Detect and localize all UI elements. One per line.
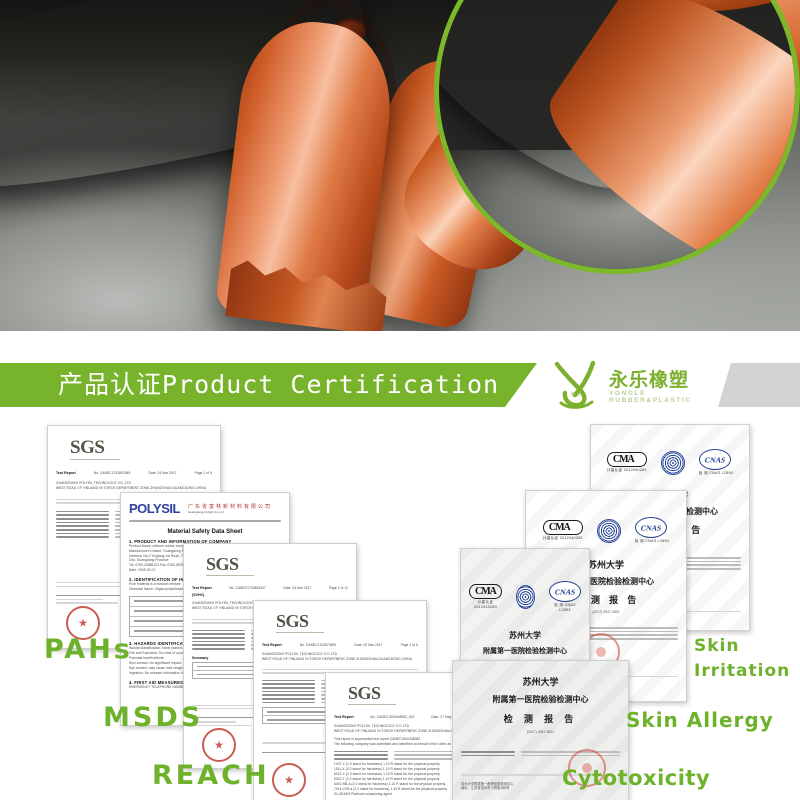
ilac-mra-mark — [597, 519, 621, 543]
institution-name-cn: 苏州大学 — [469, 630, 581, 641]
institution-name-cn: 苏州大学 — [461, 675, 620, 688]
header-gray-accent — [718, 363, 800, 407]
cma-mark: CMA — [607, 452, 647, 467]
doc-subtitle: (SVHC) — [192, 593, 348, 597]
official-stamp — [272, 763, 306, 797]
company-logo: 永 乐 永乐橡塑 YONGLE RUBBER&PLASTIC — [549, 357, 724, 413]
doc-date: Date: 24 Mar 2017 — [148, 471, 176, 476]
label-cytotoxicity: Cytotoxicity — [562, 766, 710, 790]
doc-title: Test Report — [262, 643, 282, 647]
doc-no: No. CANEC1900448082_001 — [370, 715, 414, 720]
label-skin-allergy: Skin Allergy — [626, 708, 774, 732]
official-stamp — [202, 728, 236, 762]
cma-mark: CMA — [469, 584, 502, 599]
magnifier-content — [438, 0, 796, 270]
label-msds: MSDS — [103, 702, 203, 733]
doc-no: No. CANEC1703802045 — [94, 471, 131, 476]
doc-no: No. CANEC1703805447 — [229, 586, 266, 591]
cnas-caption: 检 测 CNAS L2894 — [699, 471, 733, 476]
logo-name-en: YONGLE RUBBER&PLASTIC — [609, 390, 724, 404]
cnas-mark — [635, 517, 667, 538]
doc-title: Test Report — [334, 715, 354, 719]
label-reach: REACH — [152, 760, 270, 791]
page-title: 产品认证Product Certification — [58, 363, 499, 407]
accreditation-marks: CMA 计量认证 2012040283 检 测 CNAS L2894 — [469, 581, 581, 612]
product-certification-page: 产品认证Product Certification 永 乐 永乐橡塑 YONGL… — [0, 0, 800, 800]
doc-page: Page 1 of 5 — [195, 471, 212, 476]
company-name-cn: 广东省富林新材料有限公司 — [188, 503, 281, 510]
doc-title: Test Report — [56, 471, 76, 475]
label-skin-irritation: Skin Irritation — [694, 634, 790, 683]
polysil-logo: POLYSIL — [129, 501, 180, 516]
product-photo — [0, 0, 800, 331]
doc-date: Date: 24 Mar 2017 — [283, 586, 311, 591]
doc-date: Date: 02 Mar 2017 — [354, 643, 382, 648]
doc-title-cn: 检 测 报 告 — [461, 712, 620, 725]
sgs-logo: SGS — [276, 612, 418, 630]
svg-text:永 乐: 永 乐 — [570, 391, 582, 398]
doc-page: Page 1 of 6 — [401, 643, 418, 648]
ilac-mra-mark — [661, 451, 685, 475]
cnas-mark — [549, 581, 581, 602]
sgs-logo: SGS — [70, 438, 212, 457]
magnified-detail-circle — [434, 0, 800, 274]
cnas-mark — [699, 449, 731, 470]
department-name-cn: 附属第一医院检验检测中心 — [469, 646, 581, 656]
company-name-en: Guangdong Polysil Co.,Ltd — [188, 510, 281, 514]
cma-caption: 计量认证 2012040283 — [607, 468, 647, 473]
label-pahs: PAHs — [44, 634, 133, 665]
doc-page: Page 1 of 11 — [329, 586, 348, 591]
accreditation-marks: CMA 计量认证 2012040283 检 测 CNAS L2894 — [599, 449, 741, 476]
yongle-leaf-mark-icon: 永 乐 — [549, 359, 603, 411]
doc-title: Material Safety Data Sheet — [129, 529, 281, 535]
logo-name-cn: 永乐橡塑 — [609, 365, 689, 392]
doc-no: No. CANEC1703874891 — [300, 643, 337, 648]
doc-address: WEST ROAD OF YINLIANG IN TORCH DEPARTMEN… — [56, 486, 212, 491]
ilac-mra-mark — [516, 585, 535, 609]
sgs-logo: SGS — [206, 555, 348, 573]
doc-title: Test Report — [192, 586, 212, 590]
accreditation-marks: CMA 计量认证 2012040283 检 测 CNAS L2894 — [534, 517, 678, 544]
cma-mark: CMA — [543, 520, 583, 535]
